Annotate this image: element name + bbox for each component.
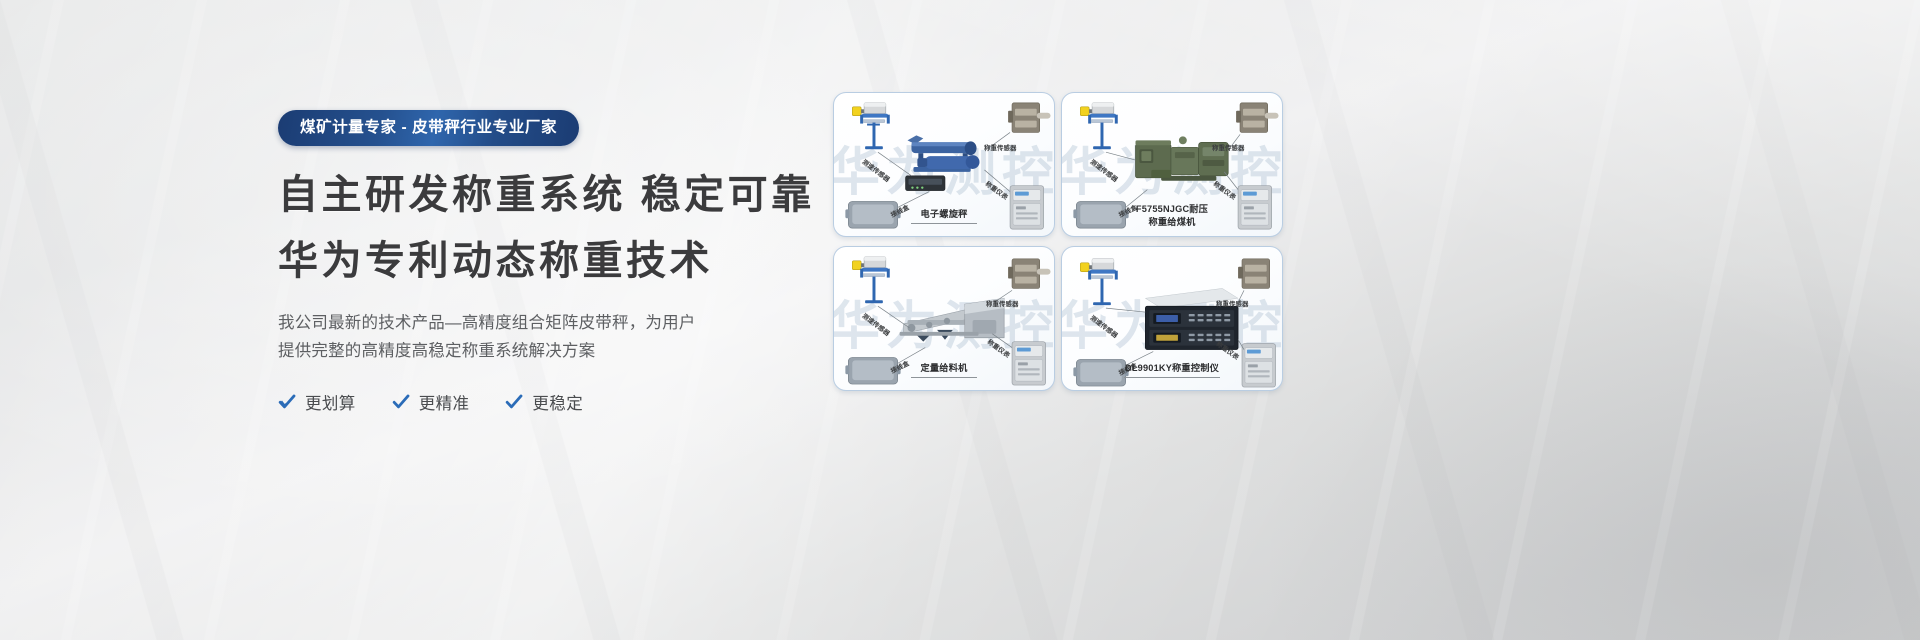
headline-line-1: 自主研发称重系统 稳定可靠 (278, 175, 748, 215)
feature-bullet-1-label: 更划算 (305, 390, 356, 414)
label-weight-sensor: 称重传感器 (986, 299, 1018, 308)
product-card-quantitative-feeder[interactable]: 华为测控 (833, 246, 1055, 391)
headline-line-2: 华为专利动态称重技术 (278, 241, 748, 281)
feature-bullet-2-label: 更精准 (419, 390, 470, 414)
product-card-dl9901ky-controller[interactable]: 华为测控 (1061, 246, 1283, 391)
label-weight-sensor: 称重传感器 (1216, 299, 1248, 308)
product-card-electronic-screw-scale[interactable]: 华为测控 (833, 92, 1055, 237)
check-icon (392, 393, 410, 411)
hero-paragraph: 我公司最新的技术产品—高精度组合矩阵皮带秤，为用户提供完整的高精度高稳定称重系统… (278, 309, 710, 365)
product-card-f5755njgc-coal-feeder[interactable]: 华为测控 (1061, 92, 1283, 237)
hero-text-block: 煤矿计量专家 - 皮带秤行业专业厂家 自主研发称重系统 稳定可靠 华为专利动态称… (278, 110, 748, 414)
feature-bullet-1: 更划算 (278, 390, 356, 414)
label-weight-sensor: 称重传感器 (984, 143, 1016, 152)
product-card-grid: 华为测控 (833, 92, 1285, 397)
feature-bullet-2: 更精准 (392, 390, 470, 414)
tagline-badge: 煤矿计量专家 - 皮带秤行业专业厂家 (278, 110, 579, 146)
label-weight-sensor: 称重传感器 (1212, 143, 1244, 152)
feature-bullet-3: 更稳定 (505, 390, 583, 414)
check-icon (505, 393, 523, 411)
check-icon (278, 393, 296, 411)
feature-bullet-list: 更划算 更精准 更稳定 (278, 390, 748, 414)
feature-bullet-3-label: 更稳定 (532, 390, 583, 414)
hero-banner: 煤矿计量专家 - 皮带秤行业专业厂家 自主研发称重系统 稳定可靠 华为专利动态称… (0, 0, 1920, 640)
